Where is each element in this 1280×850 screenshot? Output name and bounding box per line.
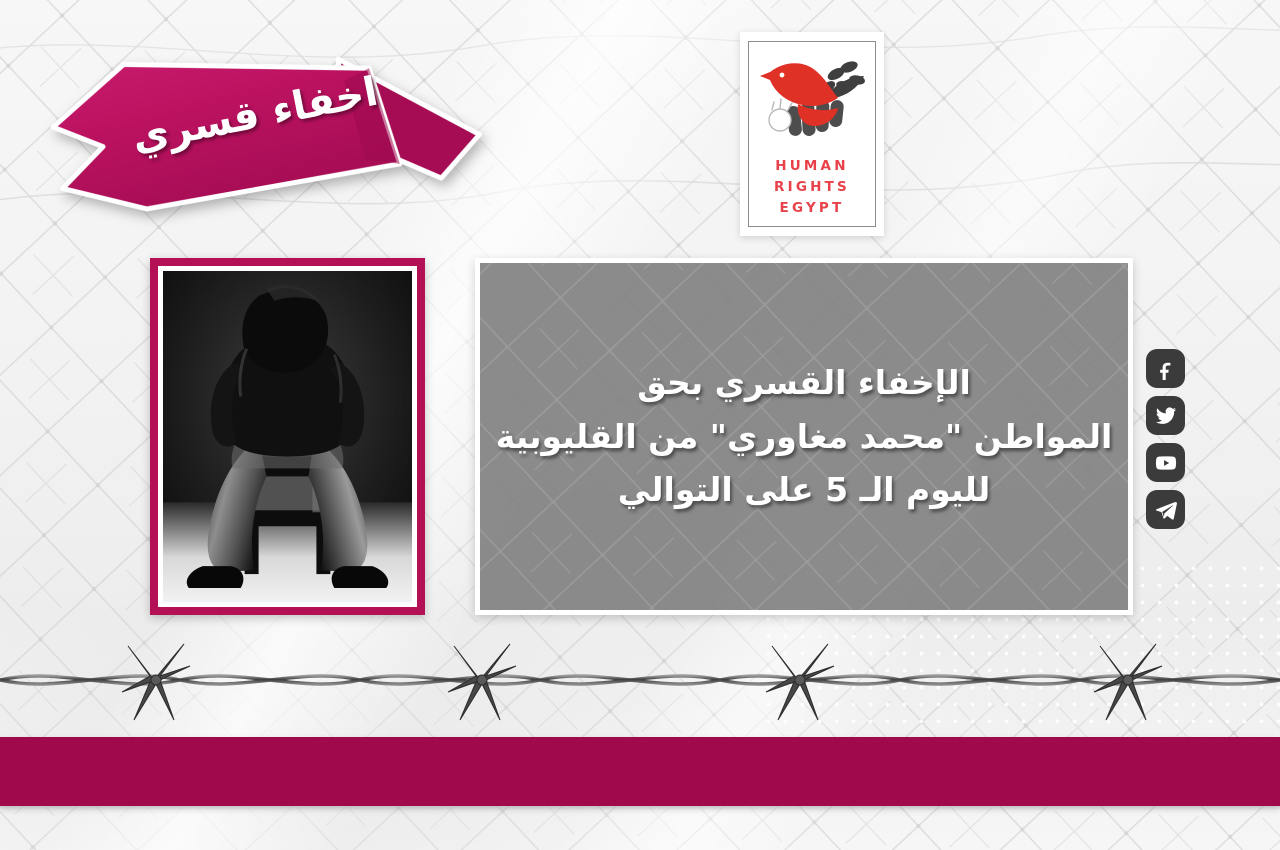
organization-logo-card: HUMAN RIGHTS EGYPT bbox=[740, 32, 884, 236]
logo-word-line-1: HUMAN bbox=[774, 156, 850, 177]
logo-word-line-2: RIGHTS bbox=[774, 177, 850, 198]
victim-photo bbox=[163, 271, 412, 602]
bottom-accent-bar bbox=[0, 737, 1280, 806]
announcement-panel: الإخفاء القسري بحق المواطن "محمد مغاوري"… bbox=[475, 258, 1133, 615]
twitter-icon[interactable] bbox=[1146, 396, 1185, 435]
announcement-line-3: لليوم الـ 5 على التوالي bbox=[496, 463, 1113, 516]
bottom-bar-edge-shadow bbox=[0, 806, 1280, 810]
poster-canvas: اخفاء قسري bbox=[0, 0, 1280, 850]
logo-inner-border: HUMAN RIGHTS EGYPT bbox=[748, 41, 876, 227]
announcement-text: الإخفاء القسري بحق المواطن "محمد مغاوري"… bbox=[475, 356, 1133, 516]
logo-word-line-3: EGYPT bbox=[774, 198, 850, 219]
logo-wordmark: HUMAN RIGHTS EGYPT bbox=[774, 156, 850, 219]
social-links-rail[interactable] bbox=[1146, 349, 1185, 529]
photo-mat bbox=[158, 266, 417, 607]
facebook-icon[interactable] bbox=[1146, 349, 1185, 388]
bird-hand-olive-branch-icon bbox=[754, 54, 870, 150]
youtube-icon[interactable] bbox=[1146, 443, 1185, 482]
victim-photo-frame bbox=[150, 258, 425, 615]
telegram-icon[interactable] bbox=[1146, 490, 1185, 529]
announcement-line-2: المواطن "محمد مغاوري" من القليوبية bbox=[496, 410, 1113, 463]
announcement-line-1: الإخفاء القسري بحق bbox=[496, 356, 1113, 409]
